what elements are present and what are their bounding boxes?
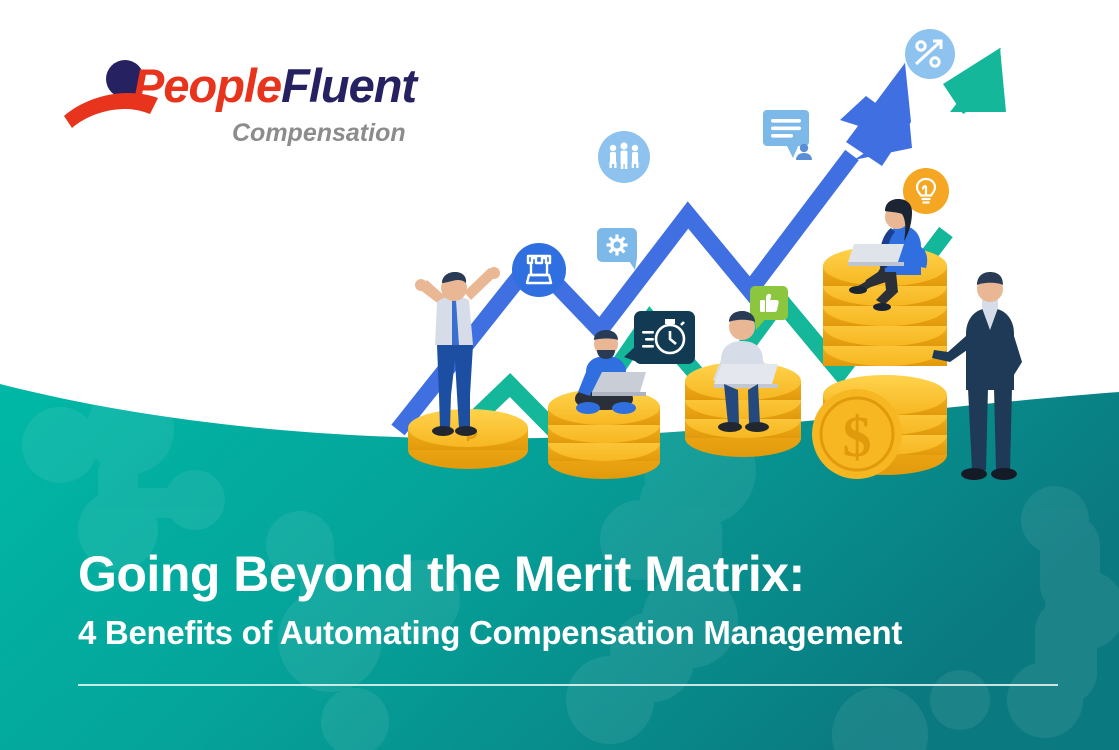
user-badge-icon bbox=[796, 144, 812, 160]
page-subtitle: 4 Benefits of Automating Compensation Ma… bbox=[78, 615, 1063, 651]
page-title: Going Beyond the Merit Matrix: bbox=[78, 548, 1063, 601]
stopwatch-icon bbox=[624, 311, 695, 364]
dollar-coin-large: $ bbox=[812, 389, 902, 479]
percent-growth-icon bbox=[905, 29, 955, 79]
title-divider bbox=[78, 684, 1058, 686]
gear-icon bbox=[597, 228, 637, 270]
poster-canvas: PeopleFluent Compensation bbox=[0, 0, 1119, 750]
people-group-icon bbox=[598, 131, 650, 183]
chess-rook-icon bbox=[512, 243, 566, 297]
dollar-symbol: $ bbox=[843, 404, 872, 469]
title-block: Going Beyond the Merit Matrix: 4 Benefit… bbox=[78, 548, 1063, 651]
